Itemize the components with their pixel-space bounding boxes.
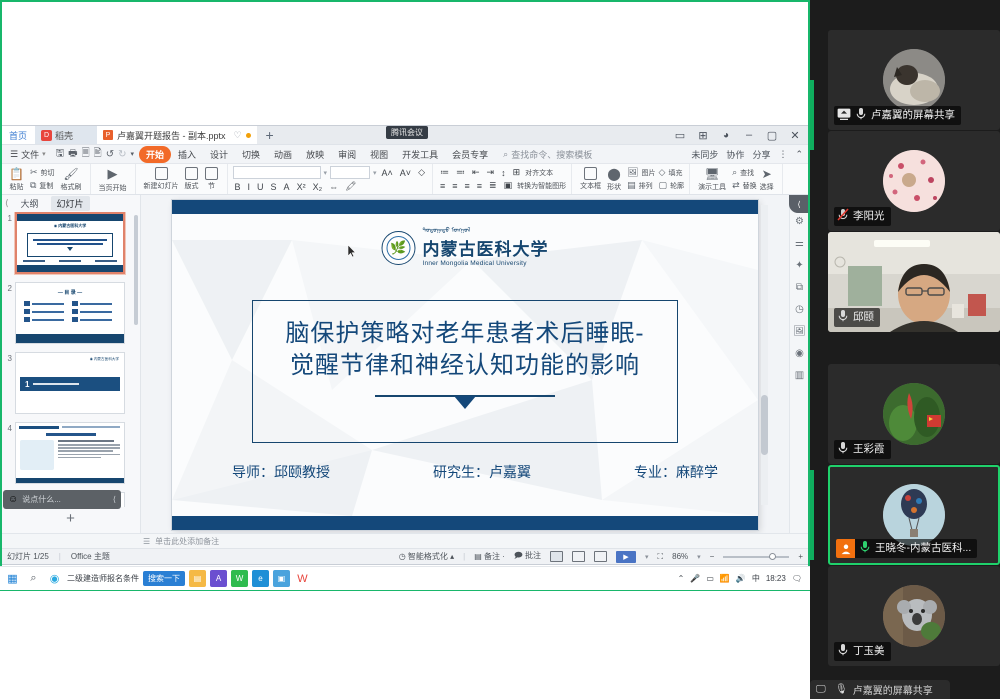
smart-format-button[interactable]: ◷ 智能格式化 ▴ (399, 551, 454, 562)
numbering-button[interactable]: ≕ (454, 167, 467, 178)
screen-share-label: 卢嘉翼的屏幕共享 (853, 682, 933, 697)
paintbrush-icon: 🖌 (63, 167, 78, 181)
file-menu-button[interactable]: ☰ 文件 ▾ (5, 148, 51, 161)
format-painter-button[interactable]: 🖌 格式刷 (58, 167, 85, 192)
tencent-meeting-float-label[interactable]: 腾讯会议 (386, 126, 428, 139)
avatar (883, 484, 945, 546)
share-button[interactable]: 分享 (752, 148, 770, 161)
zoom-slider[interactable] (723, 556, 789, 558)
tray-wifi-icon[interactable]: 📶 (720, 574, 730, 583)
play-circle-icon: ▶ (108, 166, 118, 182)
university-logo-block: 🌿 ᠳᠣᠲᠣᠭᠠᠳᠤ ᠮᠣᠩᠭᠣᠯ 内蒙古医科大学 Inner Mongolia… (382, 228, 549, 267)
university-mongolian-name: ᠳᠣᠲᠣᠭᠠᠳᠤ ᠮᠣᠩᠭᠣᠯ (423, 228, 471, 235)
share-screen-icon: 🖵 (816, 684, 830, 696)
participant-name-chip: 丁玉美 (834, 642, 891, 661)
find-button[interactable]: ⌕查找 (732, 167, 757, 178)
decrease-font-size-button[interactable]: A˅ (398, 168, 413, 178)
underline-button[interactable]: U (255, 182, 266, 192)
window-controls: ▭ ⊞ ◕ – ▢ ✕ (672, 126, 809, 144)
italic-button[interactable]: I (246, 182, 253, 192)
align-center-button[interactable]: ≡ (450, 181, 459, 191)
ribbon-group-paragraph: ≔ ≕ ⇤ ⇥ ↕ ⊞ 对齐文本 ≡ ≡ ≡ ≡ ≣ ▣ (433, 164, 572, 194)
avatar (883, 585, 945, 647)
view-sorter-button[interactable] (572, 551, 585, 562)
desktop-lower-area (0, 590, 810, 699)
character-spacing-button[interactable]: ⇔ (327, 182, 340, 192)
collapse-chip-icon[interactable]: ⟨ (113, 495, 116, 504)
thumbnail-list[interactable]: 1 ◉ 内蒙古医科大学 2 — 目 录 — 3◉ 内蒙古医科大学 1 4 (1, 212, 140, 507)
meta-advisor: 导师：邱颐教授 (232, 462, 330, 482)
line-spacing-button[interactable]: ↕ (499, 168, 508, 178)
tab-docer[interactable]: D 稻壳 (35, 126, 97, 144)
avatar[interactable]: ◕ (718, 130, 734, 141)
save-icon[interactable]: 🖫 (56, 146, 65, 163)
thumbnail-number: 3 (1, 352, 15, 412)
participant-name-chip: 李阳光 (834, 207, 891, 226)
pptx-file-icon: P (103, 130, 113, 140)
picture-icon: 🖼 (627, 167, 638, 178)
comment-placeholder: 说点什么... (22, 494, 61, 505)
thumbnail-slide-4[interactable]: 4 (1, 422, 140, 482)
rail-collapse-icon[interactable]: ⟨ (789, 195, 809, 213)
slide-canvas-area[interactable]: 🌿 ᠳᠣᠲᠣᠭᠠᠳᠤ ᠮᠣᠩᠭᠣᠯ 内蒙古医科大学 Inner Mongolia… (141, 195, 789, 533)
fill-button[interactable]: ◇填充 (659, 167, 685, 178)
wechat-icon[interactable]: W (231, 570, 248, 587)
taskbar-news-text[interactable]: 二级建造师报名条件 (67, 573, 139, 584)
notes-placeholder: 单击此处添加备注 (155, 536, 219, 547)
outline-icon: ▢ (659, 180, 668, 191)
layout-panel-icon[interactable]: ▥ (793, 369, 806, 382)
strikethrough-button[interactable]: S (269, 182, 279, 192)
ribbon-group-tools: 🖥 演示工具 ⌕查找 ⇄替换 ➤ 选择 (690, 164, 783, 194)
avatar (883, 49, 945, 111)
section-button[interactable]: 节 (202, 167, 222, 191)
ribbon-tab-row: ☰ 文件 ▾ 🖫 🖶 🗏 🖹 ↺ ↻ ▾ 开始插入设计切换动画放映审阅视图开发工… (1, 145, 809, 164)
font-size-input[interactable] (330, 166, 370, 179)
quick-comment-chip[interactable]: ☺说点什么...⟨ (3, 490, 121, 509)
tab-home[interactable]: 首页 (1, 126, 35, 144)
participant-tile-1[interactable]: 李阳光 (828, 131, 1000, 231)
slide-top-band (172, 200, 758, 214)
pane-collapse-icon[interactable]: ⟨ (5, 198, 9, 209)
distribute-button[interactable]: ≣ (487, 180, 499, 191)
clock-icon[interactable]: ◷ (793, 303, 806, 316)
app-blue-icon[interactable]: ▣ (273, 570, 290, 587)
mic-status-icon (837, 309, 849, 327)
notes-icon: ☰ (143, 537, 150, 546)
copy-button[interactable]: ⧉复制 (30, 180, 55, 191)
tray-notification-icon[interactable]: 🗨 (792, 574, 802, 583)
ribbon-tab-3[interactable]: 切换 (235, 146, 267, 163)
slide-title-line-2: 觉醒节律和神经认知功能的影响 (290, 349, 640, 381)
unsaved-dot-icon (246, 133, 251, 138)
wps-icon[interactable]: W (294, 570, 311, 587)
settings-gear-icon[interactable]: ⚙ (793, 215, 806, 228)
ribbon-tab-6[interactable]: 审阅 (331, 146, 363, 163)
select-button[interactable]: ➤ 选择 (757, 167, 777, 192)
thumbnail-preview[interactable] (15, 422, 125, 484)
paste-icon: 📋 (9, 167, 24, 181)
textbox-button[interactable]: 文本框 (577, 167, 604, 191)
bottom-mic-icon: 🎙 (835, 684, 848, 695)
chevron-down-icon: ▾ (42, 150, 46, 158)
copy-icon: ⧉ (30, 180, 36, 191)
tab-document-file[interactable]: P 卢嘉翼开题报告 - 副本.pptx ♡ (97, 126, 257, 144)
export-icon[interactable]: 🖹 (94, 146, 102, 163)
participant-name: 邱颐 (853, 308, 874, 327)
bullets-button[interactable]: ≔ (438, 167, 451, 178)
quick-access-toolbar: 🖫 🖶 🗏 🖹 ↺ ↻ ▾ (51, 146, 139, 163)
replace-icon: ⇄ (732, 180, 740, 191)
participant-tile-4[interactable]: 王晓冬-内蒙古医科... (828, 465, 1000, 565)
work-area: ⟨ 大纲 幻灯片 1 ◉ 内蒙古医科大学 2 — 目 录 — 3◉ 内蒙古医科大… (1, 195, 809, 533)
tab-outline[interactable]: 大纲 (15, 196, 45, 211)
screen-share-status-bar[interactable]: 🖵 🎙 卢嘉翼的屏幕共享 (810, 680, 950, 699)
tray-ime-icon[interactable]: 中 (752, 573, 760, 584)
subscript-button[interactable]: X₂ (311, 182, 325, 192)
docer-icon: D (41, 130, 52, 141)
notes-bar[interactable]: ☰ 单击此处添加备注 (1, 533, 809, 548)
new-tab-button[interactable]: + (257, 126, 283, 144)
text-effects-button[interactable]: A (282, 182, 292, 192)
ribbon-tab-4[interactable]: 动画 (267, 146, 299, 163)
university-seal-icon: 🌿 (382, 231, 416, 265)
globe-icon[interactable]: ◉ (793, 347, 806, 360)
hamburger-icon: ☰ (10, 149, 18, 160)
copy-pages-icon[interactable]: ⧉ (793, 281, 806, 294)
cut-button[interactable]: ✂剪切 (30, 167, 55, 178)
clear-formatting-button[interactable]: ◇ (416, 167, 427, 178)
taskbar-search-icon[interactable]: ⌕ (25, 570, 42, 587)
sync-status-button[interactable]: 未同步 (691, 148, 718, 161)
align-right-button[interactable]: ≡ (463, 181, 472, 191)
search-icon: ⌕ (503, 149, 508, 160)
section-icon (205, 167, 218, 180)
panel-edge-accent-1 (810, 80, 814, 150)
outline-button[interactable]: ▢轮廓 (659, 180, 685, 191)
meeting-participants-panel: 卢嘉翼的屏幕共享李阳光邱颐王彩霞王晓冬-内蒙古医科...丁玉美 🖵 🎙 卢嘉翼的… (810, 0, 1000, 699)
arrange-button[interactable]: ▤排列 (627, 180, 655, 191)
mic-status-icon (837, 441, 849, 459)
collaborate-button[interactable]: 协作 (726, 148, 744, 161)
presentation-tool-icon: 🖥 (704, 167, 719, 181)
slide-1-canvas[interactable]: 🌿 ᠳᠣᠲᠣᠭᠠᠳᠤ ᠮᠣᠩᠭᠣᠯ 内蒙古医科大学 Inner Mongolia… (172, 200, 758, 530)
status-bar-right: ◷ 智能格式化 ▴ | ▤ 备注 · 🗩 批注 ▶ ▾ ⛶ 86% ▾ − + (399, 550, 803, 564)
host-badge-icon (836, 539, 855, 558)
window-tab-strip: 首页 D 稻壳 P 卢嘉翼开题报告 - 副本.pptx ♡ + 腾讯会议 ▭ ⊞… (1, 126, 809, 145)
fit-to-window-icon[interactable]: ⛶ (658, 552, 664, 562)
layout-button[interactable]: 版式 (182, 167, 202, 191)
print-icon[interactable]: 🖶 (68, 146, 77, 163)
panel-edge-accent-2 (810, 470, 814, 560)
star-effects-icon[interactable]: ✦ (793, 259, 806, 272)
participant-name: 王晓冬-内蒙古医科... (875, 539, 971, 558)
search-icon: ⌕ (732, 167, 737, 178)
slideshow-play-button[interactable]: ▶ (616, 551, 636, 563)
ribbon-tab-2[interactable]: 设计 (203, 146, 235, 163)
minimize-button[interactable]: – (741, 129, 757, 141)
meta-student: 研究生：卢嘉翼 (433, 462, 531, 482)
emoji-icon: ☺ (8, 494, 18, 505)
close-button[interactable]: ✕ (787, 129, 803, 142)
ribbon-more-icon[interactable]: ⋮ (778, 149, 787, 160)
qat-more-icon[interactable]: ▾ (130, 150, 134, 158)
picture-button[interactable]: 🖼图片 (627, 167, 655, 178)
thumbnail-slide-3[interactable]: 3◉ 内蒙古医科大学 1 (1, 352, 140, 412)
justify-button[interactable]: ≡ (475, 181, 484, 191)
smartart-icon[interactable]: ▣ (502, 180, 515, 191)
increase-font-size-button[interactable]: A˄ (380, 168, 395, 178)
ribbon-group-font: ▾ ▾ A˄ A˅ ◇ B I U S A X² X₂ (228, 164, 433, 194)
participant-name-chip: 王彩霞 (834, 440, 891, 459)
university-chinese-name: 内蒙古医科大学 (423, 235, 549, 260)
thumbnail-pane-tabs: ⟨ 大纲 幻灯片 (1, 195, 140, 212)
layout-icon (185, 167, 198, 180)
print-preview-icon[interactable]: 🗏 (82, 146, 90, 163)
ribbon-group-clipboard: 📋 粘贴 ✂剪切 ⧉复制 🖌 格式刷 (1, 164, 91, 194)
slide-meta-row[interactable]: 导师：邱颐教授 研究生：卢嘉翼 专业：麻醉学 (232, 462, 718, 482)
sliders-icon[interactable]: ⚌ (793, 237, 806, 250)
slide-bottom-band (172, 516, 758, 530)
participant-name-chip: 卢嘉翼的屏幕共享 (834, 106, 961, 125)
comments-toggle-button[interactable]: 🗩 批注 (514, 550, 541, 564)
wps-presentation-window: 首页 D 稻壳 P 卢嘉翼开题报告 - 副本.pptx ♡ + 腾讯会议 ▭ ⊞… (0, 125, 810, 565)
zoom-out-button[interactable]: − (710, 552, 715, 561)
tray-expand-icon[interactable]: ⌃ (678, 574, 685, 583)
screen-root: 首页 D 稻壳 P 卢嘉翼开题报告 - 副本.pptx ♡ + 腾讯会议 ▭ ⊞… (0, 0, 1000, 699)
view-normal-button[interactable] (550, 551, 563, 562)
align-left-button[interactable]: ≡ (438, 181, 447, 191)
thumbnail-number: 4 (1, 422, 15, 482)
cursor-select-icon: ➤ (762, 167, 772, 181)
superscript-button[interactable]: X² (295, 182, 308, 192)
paste-button[interactable]: 📋 粘贴 (6, 167, 27, 192)
tray-volume-icon[interactable]: 🔊 (736, 574, 746, 583)
notes-toggle-button[interactable]: ▤ 备注 · (474, 551, 505, 562)
ribbon-right-actions: 未同步 协作 分享 ⋮ ⌃ (691, 148, 809, 161)
avatar (883, 383, 945, 445)
arrange-icon: ▤ (627, 180, 636, 191)
ribbon-tab-7[interactable]: 视图 (363, 146, 395, 163)
participant-name: 李阳光 (853, 207, 885, 226)
participant-name: 丁玉美 (853, 642, 885, 661)
participant-tile-3[interactable]: 王彩霞 (828, 364, 1000, 464)
new-slide-button[interactable]: 新建幻灯片 (141, 167, 182, 191)
mouse-cursor-icon (348, 245, 356, 257)
tray-mic-icon[interactable]: 🎤 (690, 574, 700, 583)
cloud-icon: ♡ (234, 130, 242, 141)
zoom-slider-knob[interactable] (769, 553, 776, 560)
participant-tile-0[interactable]: 卢嘉翼的屏幕共享 (828, 30, 1000, 130)
ribbon-group-drawing: 文本框 ⬤ 形状 🖼图片 ▤排列 ◇填充 ▢轮廓 (572, 164, 690, 194)
canvas-vertical-scrollbar[interactable] (761, 205, 768, 505)
bold-button[interactable]: B (233, 182, 243, 192)
slide-title-box[interactable]: 脑保护策略对老年患者术后睡眠- 觉醒节律和神经认知功能的影响 (252, 300, 678, 443)
ribbon-tab-9[interactable]: 会员专享 (445, 146, 495, 163)
mic-status-icon (837, 208, 849, 226)
command-search[interactable]: ⌕ 查找命令、搜索模板 (503, 148, 592, 161)
restore-button[interactable]: ▢ (764, 129, 780, 142)
mic-status-icon (855, 107, 867, 125)
ribbon-group-slideshow: ▶ 当页开始 (91, 164, 136, 194)
thumbnail-number: 1 (1, 212, 15, 272)
zoom-level-label[interactable]: 86% (672, 552, 688, 561)
image-tools-icon[interactable]: 🖼 (793, 325, 806, 338)
tray-clock[interactable]: 18:23 (766, 574, 786, 583)
title-triangle-icon (454, 396, 476, 409)
participant-tile-2[interactable]: 邱颐 (828, 232, 1000, 332)
participant-tiles: 卢嘉翼的屏幕共享李阳光邱颐王彩霞王晓冬-内蒙古医科...丁玉美 (818, 0, 1000, 699)
meta-major: 专业：麻醉学 (634, 462, 718, 482)
thumbnail-preview[interactable]: ◉ 内蒙古医科大学 (15, 212, 125, 274)
windows-start-icon[interactable]: ▦ (4, 570, 21, 587)
ribbon-collapse-icon[interactable]: ⌃ (795, 149, 803, 160)
participant-name-chip: 邱颐 (834, 308, 880, 327)
right-tool-rail: ⟨ ⚙ ⚌ ✦ ⧉ ◷ 🖼 ◉ ▥ (789, 195, 809, 533)
ribbon-tab-0[interactable]: 开始 (139, 146, 171, 163)
align-text-button[interactable]: ⊞ (511, 167, 523, 178)
grid-view-icon[interactable]: ⊞ (695, 129, 711, 142)
shapes-button[interactable]: ⬤ 形状 (604, 167, 624, 192)
ribbon-toolbar: 📋 粘贴 ✂剪切 ⧉复制 🖌 格式刷 ▶ 当页开始 (1, 164, 809, 195)
thumbnail-slide-1[interactable]: 1 ◉ 内蒙古医科大学 (1, 212, 140, 272)
font-name-input[interactable] (233, 166, 321, 179)
participant-name: 王彩霞 (853, 440, 885, 459)
university-english-name: Inner Mongolia Medical University (423, 260, 527, 267)
ribbon-tab-1[interactable]: 插入 (171, 146, 203, 163)
replace-button[interactable]: ⇄替换 (732, 180, 757, 191)
tab-slides[interactable]: 幻灯片 (51, 196, 90, 211)
shapes-icon: ⬤ (607, 167, 620, 181)
theme-name[interactable]: Office 主题 (71, 551, 110, 562)
participant-name-chip: 王晓冬-内蒙古医科... (836, 539, 977, 558)
ribbon-tab-5[interactable]: 放映 (299, 146, 331, 163)
start-from-current-button[interactable]: ▶ 当页开始 (96, 166, 130, 193)
edge-icon[interactable]: ◉ (46, 570, 63, 587)
tray-battery-icon[interactable]: ▭ (706, 574, 714, 583)
thumbnail-preview[interactable]: — 目 录 — (15, 282, 125, 344)
add-slide-button[interactable]: + (1, 510, 140, 527)
slide-title-line-1: 脑保护策略对老年患者术后睡眠- (285, 317, 644, 349)
fill-icon: ◇ (659, 167, 666, 178)
thumbnail-number: 2 (1, 282, 15, 342)
split-view-icon[interactable]: ▭ (672, 129, 688, 142)
ribbon-group-slides: 新建幻灯片 版式 节 (136, 164, 228, 194)
thumbnail-slide-2[interactable]: 2 — 目 录 — (1, 282, 140, 342)
screen-share-icon (837, 107, 851, 125)
status-bar: 幻灯片 1/25 | Office 主题 ◷ 智能格式化 ▴ | ▤ 备注 · … (1, 548, 809, 564)
scissors-icon: ✂ (30, 167, 38, 178)
ribbon-tab-8[interactable]: 开发工具 (395, 146, 445, 163)
thumbnail-preview[interactable]: ◉ 内蒙古医科大学 1 (15, 352, 125, 414)
system-tray: ⌃ 🎤 ▭ 📶 🔊 中 18:23 🗨 (678, 573, 806, 584)
redo-icon[interactable]: ↻ (118, 149, 126, 160)
highlight-color-button[interactable]: 🖍 (343, 181, 358, 192)
app-purple-icon[interactable]: A (210, 570, 227, 587)
slide-counter: 幻灯片 1/25 (7, 551, 49, 562)
windows-taskbar: ▦ ⌕ ◉ 二级建造师报名条件 搜索一下 ▤ A W e ▣ W ⌃ 🎤 ▭ 📶… (0, 566, 810, 590)
participant-name: 卢嘉翼的屏幕共享 (871, 106, 955, 125)
mic-status-icon (837, 643, 849, 661)
file-explorer-icon[interactable]: ▤ (189, 570, 206, 587)
taskbar-search-button[interactable]: 搜索一下 (143, 571, 185, 586)
presentation-tools-button[interactable]: 🖥 演示工具 (695, 167, 729, 192)
textbox-icon (584, 167, 597, 180)
thumbnail-scrollbar[interactable] (134, 215, 138, 325)
view-reading-button[interactable] (594, 551, 607, 562)
avatar (883, 150, 945, 212)
ribbon-tabs: 开始插入设计切换动画放映审阅视图开发工具会员专享 (139, 146, 495, 163)
increase-indent-button[interactable]: ⇥ (485, 167, 497, 178)
decrease-indent-button[interactable]: ⇤ (470, 167, 482, 178)
undo-icon[interactable]: ↺ (106, 149, 114, 160)
slide-thumbnail-pane: ⟨ 大纲 幻灯片 1 ◉ 内蒙古医科大学 2 — 目 录 — 3◉ 内蒙古医科大… (1, 195, 141, 533)
new-slide-icon (155, 167, 168, 180)
mic-status-icon (859, 540, 871, 558)
zoom-in-button[interactable]: + (798, 552, 803, 561)
edge-browser-icon[interactable]: e (252, 570, 269, 587)
participant-tile-5[interactable]: 丁玉美 (828, 566, 1000, 666)
